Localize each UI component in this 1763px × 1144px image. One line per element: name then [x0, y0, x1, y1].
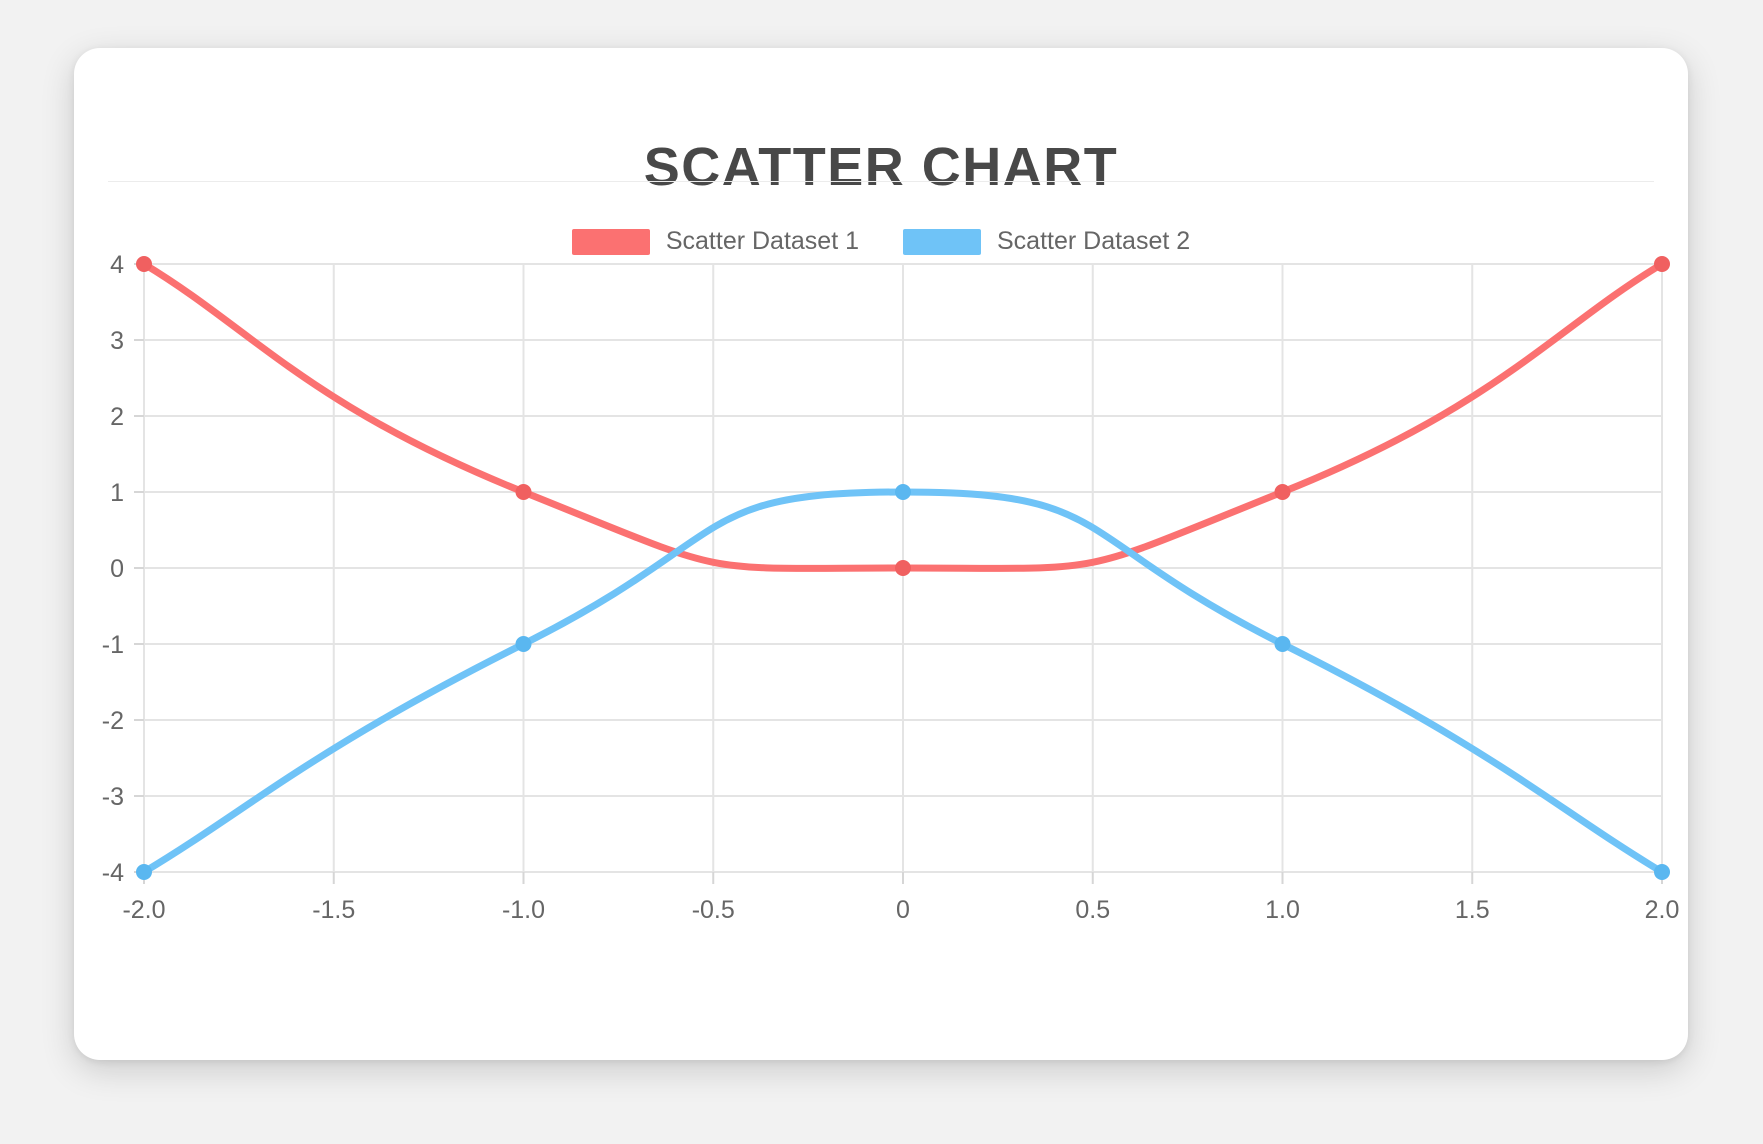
y-tick-label: 4 — [110, 251, 124, 279]
data-point-series-1[interactable] — [136, 256, 152, 272]
x-tick-label: 0 — [896, 896, 910, 924]
data-point-series-2[interactable] — [516, 636, 532, 652]
x-tick-label: -2.0 — [122, 896, 165, 924]
y-tick-label: 0 — [110, 555, 124, 583]
data-point-series-1[interactable] — [895, 560, 911, 576]
y-tick-label: 3 — [110, 327, 124, 355]
x-tick-label: -0.5 — [692, 896, 735, 924]
data-point-series-1[interactable] — [1654, 256, 1670, 272]
scatter-plot-svg[interactable]: 43210-1-2-3-4-2.0-1.5-1.0-0.500.51.01.52… — [74, 48, 1688, 1060]
data-point-series-2[interactable] — [136, 864, 152, 880]
x-tick-label: 1.5 — [1455, 896, 1490, 924]
data-point-series-1[interactable] — [516, 484, 532, 500]
y-tick-label: -4 — [102, 859, 124, 887]
y-tick-label: 1 — [110, 479, 124, 507]
data-point-series-2[interactable] — [1654, 864, 1670, 880]
y-tick-label: 2 — [110, 403, 124, 431]
x-tick-label: -1.5 — [312, 896, 355, 924]
x-tick-label: 2.0 — [1645, 896, 1680, 924]
y-tick-label: -1 — [102, 631, 124, 659]
plot-area: 43210-1-2-3-4-2.0-1.5-1.0-0.500.51.01.52… — [74, 48, 1688, 1060]
data-point-series-2[interactable] — [895, 484, 911, 500]
data-point-series-1[interactable] — [1275, 484, 1291, 500]
x-tick-label: 1.0 — [1265, 896, 1300, 924]
page-root: SCATTER CHART Scatter Dataset 1 Scatter … — [0, 0, 1763, 1144]
x-tick-label: 0.5 — [1075, 896, 1110, 924]
x-tick-label: -1.0 — [502, 896, 545, 924]
chart-card: SCATTER CHART Scatter Dataset 1 Scatter … — [74, 48, 1688, 1060]
y-tick-label: -2 — [102, 707, 124, 735]
data-point-series-2[interactable] — [1275, 636, 1291, 652]
y-tick-label: -3 — [102, 783, 124, 811]
